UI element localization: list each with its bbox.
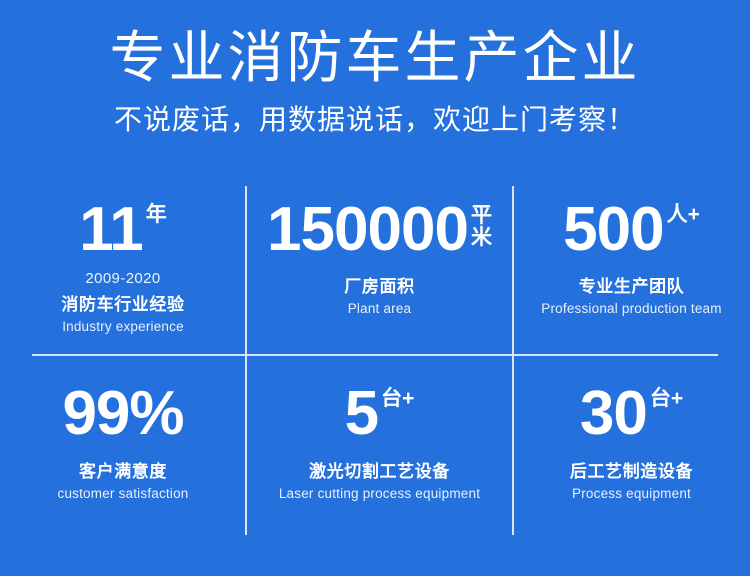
stat-cell-laser-cutting: 5 台+ 激光切割工艺设备 Laser cutting process equi… <box>246 354 513 536</box>
stat-number: 99% <box>62 384 183 445</box>
stat-cell-industry-experience: 11 年 2009-2020 消防车行业经验 Industry experien… <box>0 186 246 354</box>
stat-unit: 平 米 <box>468 200 492 249</box>
stat-number: 30 <box>580 384 647 445</box>
stat-label-en: customer satisfaction <box>58 486 189 503</box>
stat-number-row: 11 年 <box>79 200 167 261</box>
stat-label-en: Process equipment <box>572 486 691 503</box>
stat-label-en: Industry experience <box>62 319 184 336</box>
stat-label-cn: 客户满意度 <box>79 461 167 482</box>
stat-label-en: Professional production team <box>541 301 721 318</box>
stat-label-cn: 专业生产团队 <box>579 276 685 297</box>
stat-unit: 年 <box>143 200 167 225</box>
stat-label-cn: 消防车行业经验 <box>61 294 184 315</box>
stat-number-row: 500 人+ <box>563 200 700 261</box>
stat-number: 5 <box>345 384 378 445</box>
stat-unit: 台+ <box>647 384 683 409</box>
page-subtitle: 不说废话，用数据说话，欢迎上门考察！ <box>0 91 750 138</box>
stat-number: 11 <box>79 200 143 261</box>
stat-year-range: 2009-2020 <box>85 270 160 288</box>
stat-label-en: Laser cutting process equipment <box>279 486 480 503</box>
stats-grid: 11 年 2009-2020 消防车行业经验 Industry experien… <box>0 186 750 536</box>
stat-label-en: Plant area <box>348 301 412 318</box>
promo-banner: 专业消防车生产企业 不说废话，用数据说话，欢迎上门考察！ 11 年 2009-2… <box>0 0 750 576</box>
stat-number-row: 5 台+ <box>345 384 415 445</box>
stat-number: 500 <box>563 200 663 261</box>
stat-label-cn: 激光切割工艺设备 <box>309 461 450 482</box>
banner-header: 专业消防车生产企业 不说废话，用数据说话，欢迎上门考察！ <box>0 0 750 138</box>
stat-cell-process-equipment: 30 台+ 后工艺制造设备 Process equipment <box>513 354 750 536</box>
stat-number-row: 30 台+ <box>580 384 683 445</box>
stat-cell-customer-satisfaction: 99% 客户满意度 customer satisfaction <box>0 354 246 536</box>
page-title: 专业消防车生产企业 <box>0 0 750 91</box>
stat-cell-production-team: 500 人+ 专业生产团队 Professional production te… <box>513 186 750 354</box>
stat-unit: 人+ <box>664 200 700 225</box>
stat-unit: 台+ <box>378 384 414 409</box>
stat-cell-plant-area: 150000 平 米 厂房面积 Plant area <box>246 186 513 354</box>
stat-label-cn: 后工艺制造设备 <box>570 461 693 482</box>
stat-label-cn: 厂房面积 <box>344 276 414 297</box>
stat-number-row: 99% <box>62 384 183 445</box>
stat-number: 150000 <box>267 200 468 261</box>
stat-number-row: 150000 平 米 <box>267 200 492 261</box>
